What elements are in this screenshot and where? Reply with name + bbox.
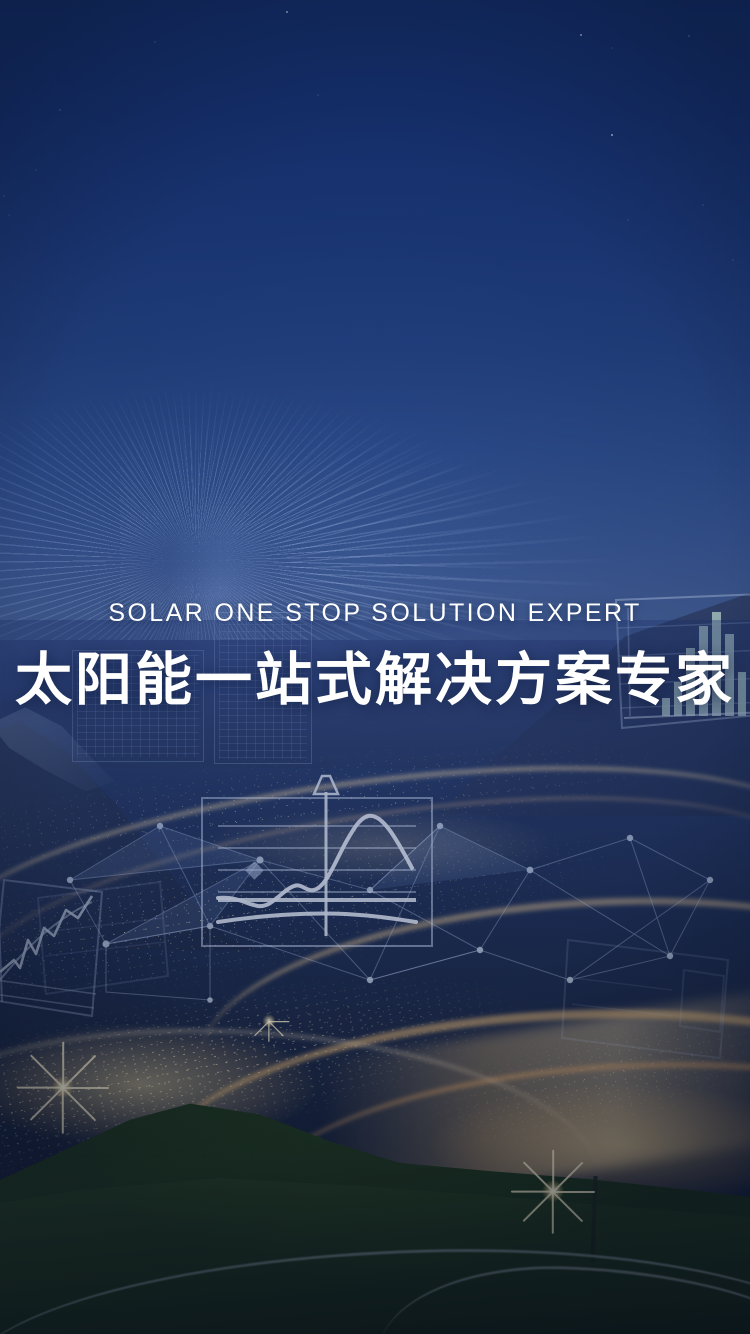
hero-eyebrow: SOLAR ONE STOP SOLUTION EXPERT (0, 600, 750, 628)
hero-banner: SOLAR ONE STOP SOLUTION EXPERT 太阳能一站式解决方… (0, 0, 750, 1334)
hero-copy-block: SOLAR ONE STOP SOLUTION EXPERT 太阳能一站式解决方… (0, 600, 750, 711)
hero-headline: 太阳能一站式解决方案专家 (0, 650, 750, 712)
